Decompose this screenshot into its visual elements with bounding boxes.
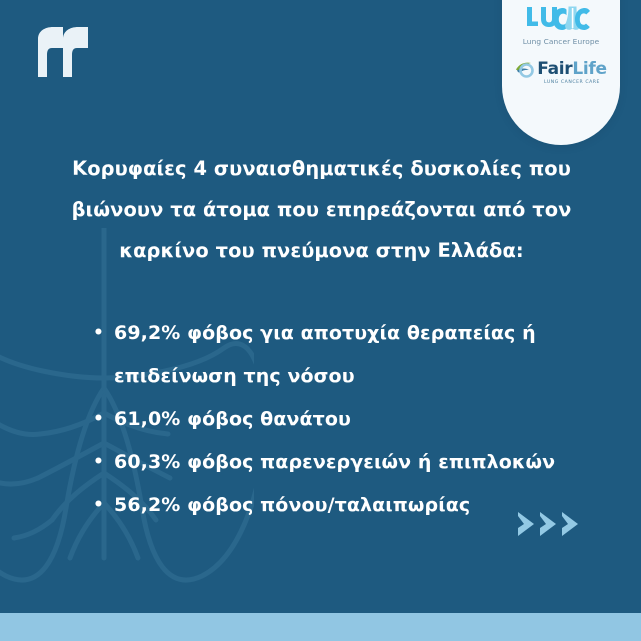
list-item: 69,2% φόβος για αποτυχία θεραπείας ή επι… — [90, 312, 590, 398]
brand-logo-card: Lung Cancer Europe FairLife LUNG CANCER … — [502, 0, 620, 145]
triple-chevron-right-icon — [516, 508, 596, 540]
list-item: 61,0% φόβος θανάτου — [90, 398, 590, 441]
luce-name: Lung Cancer Europe — [523, 37, 600, 46]
infographic-card: Lung Cancer Europe FairLife LUNG CANCER … — [0, 0, 641, 641]
page-title: Κορυφαίες 4 συναισθηματικές δυσκολίες πο… — [64, 148, 579, 271]
statistics-list: 69,2% φόβος για αποτυχία θεραπείας ή επι… — [90, 312, 590, 527]
fairlife-word-fair: Fair — [537, 61, 572, 78]
bottom-accent-bar — [0, 613, 641, 641]
fairlife-word-life: Life — [572, 61, 606, 78]
luce-logo: Lung Cancer Europe — [523, 4, 600, 46]
fairlife-tagline: LUNG CANCER CARE — [544, 80, 600, 85]
lungs-icon — [523, 4, 599, 34]
fairlife-logo: FairLife LUNG CANCER CARE — [515, 60, 607, 85]
list-item: 60,3% φόβος παρενεργειών ή επιπλοκών — [90, 441, 590, 484]
fairlife-swoosh-icon — [515, 60, 537, 78]
quotation-mark-icon — [36, 26, 100, 78]
list-item: 56,2% φόβος πόνου/ταλαιπωρίας — [90, 484, 590, 527]
